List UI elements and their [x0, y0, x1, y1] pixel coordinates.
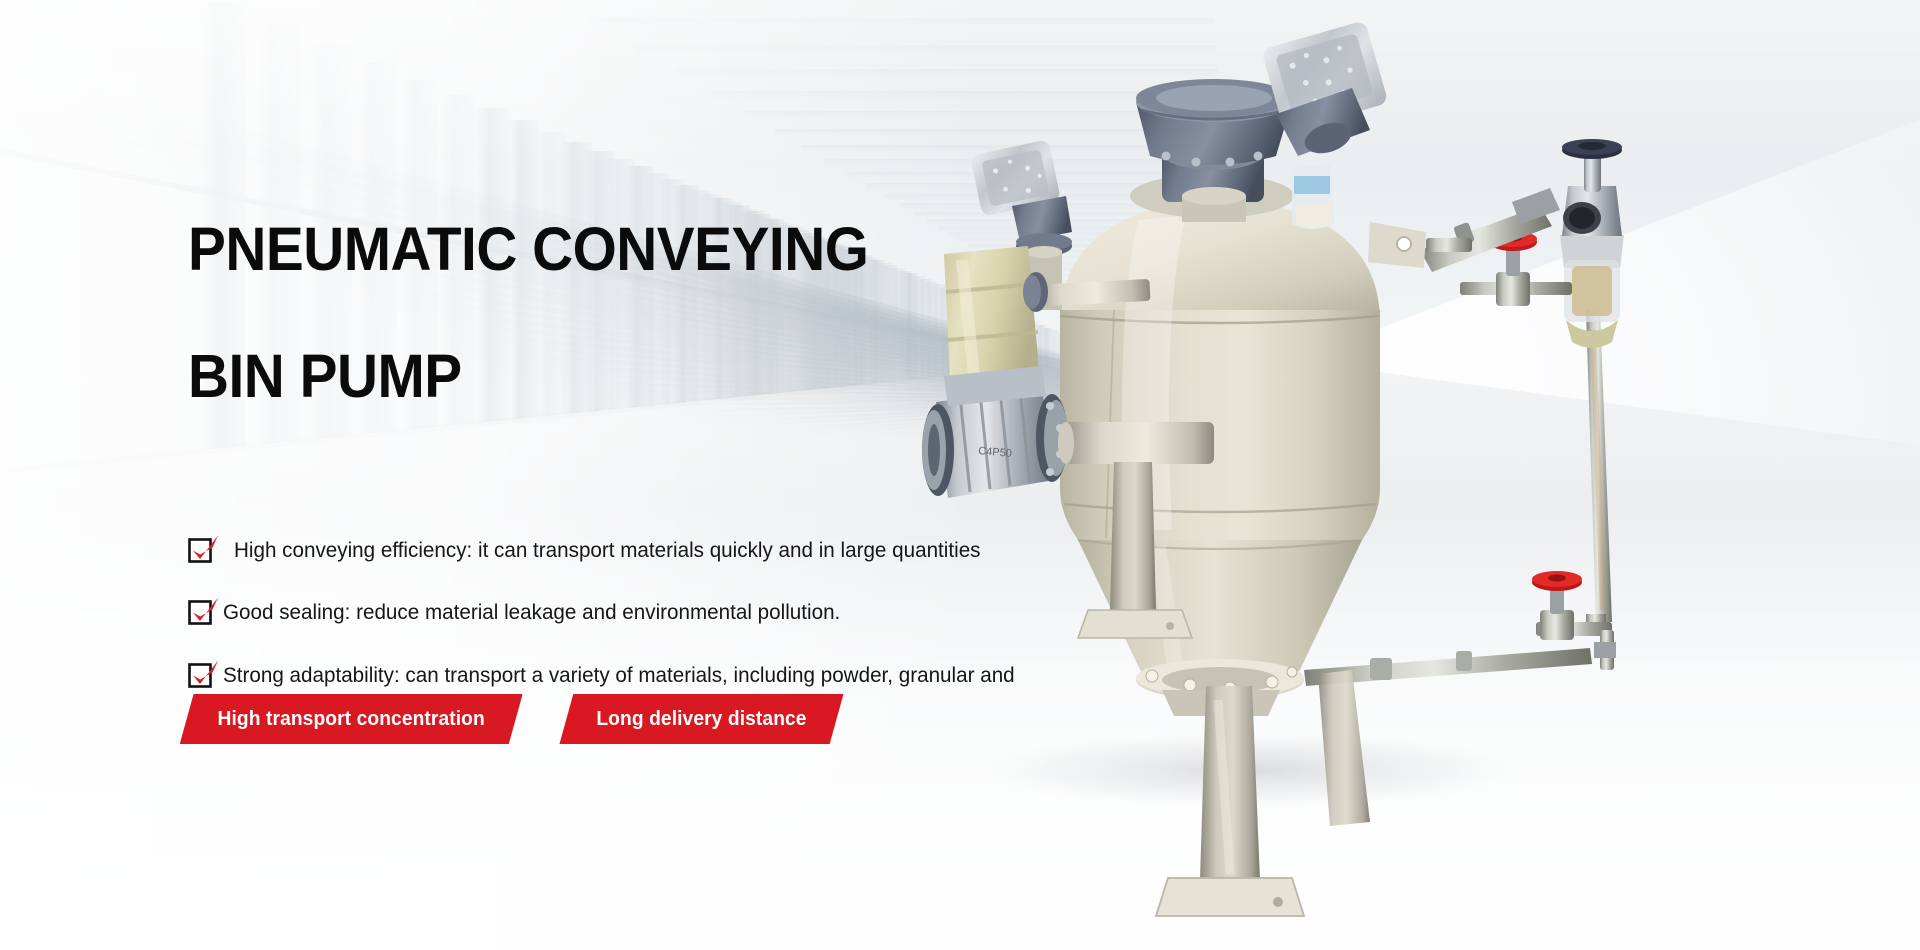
- tag-high-transport-concentration[interactable]: High transport concentration: [180, 694, 523, 744]
- feature-list: High conveying efficiency: it can transp…: [188, 535, 1048, 721]
- headline-line-1: PNEUMATIC CONVEYING: [188, 220, 988, 280]
- page-title: PNEUMATIC CONVEYING BIN PUMP: [188, 160, 988, 475]
- tag-label: Long delivery distance: [597, 708, 807, 731]
- feature-text: High conveying efficiency: it can transp…: [234, 535, 980, 566]
- product-image-bin-pump: C4P50: [900, 10, 1920, 950]
- tag-long-delivery-distance[interactable]: Long delivery distance: [560, 694, 844, 744]
- red-handwheel-lower: [1532, 571, 1582, 591]
- feature-item: Good sealing: reduce material leakage an…: [188, 597, 1048, 628]
- checkbox-checked-icon: [188, 598, 214, 624]
- banner-copy: PNEUMATIC CONVEYING BIN PUMP High convey…: [188, 160, 1048, 753]
- checkbox-checked-icon: [188, 536, 214, 562]
- headline-line-2: BIN PUMP: [188, 347, 988, 407]
- dome-nozzle-wrapped: [1292, 164, 1334, 229]
- top-feed-manifold: [1420, 188, 1560, 272]
- feature-item: High conveying efficiency: it can transp…: [188, 535, 1048, 566]
- highlight-tag-group: High transport concentration Long delive…: [178, 694, 845, 744]
- checkbox-checked-icon: [188, 661, 214, 687]
- floor-reflection: [936, 946, 1362, 950]
- tag-label: High transport concentration: [218, 708, 485, 731]
- feature-text: Good sealing: reduce material leakage an…: [223, 597, 840, 628]
- hero-banner: C4P50: [0, 0, 1920, 950]
- top-dome-valve: [1130, 79, 1294, 222]
